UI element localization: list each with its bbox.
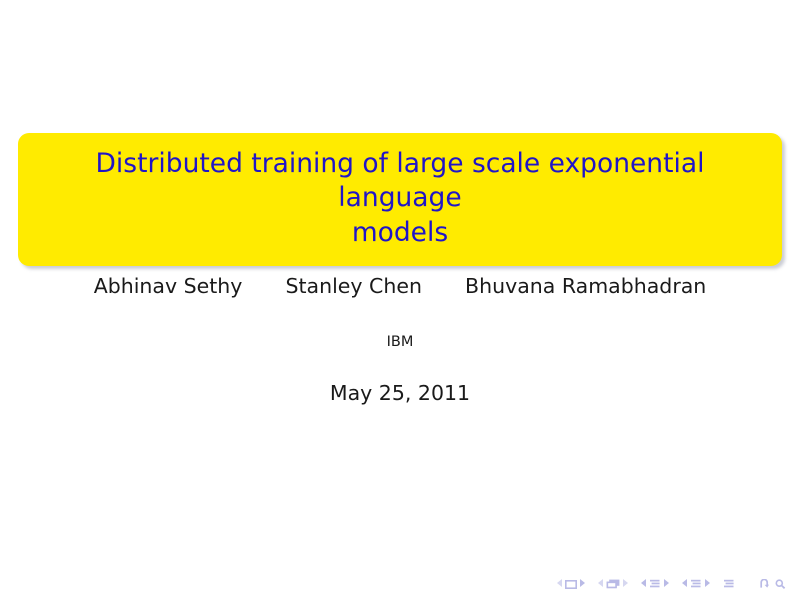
nav-group-section[interactable] xyxy=(682,574,710,593)
title-block: Distributed training of large scale expo… xyxy=(18,133,782,266)
title-block-wrapper: Distributed training of large scale expo… xyxy=(18,133,782,266)
author-name: Bhuvana Ramabhadran xyxy=(465,274,706,298)
section-icon[interactable] xyxy=(690,574,702,593)
magnifier-icon[interactable] xyxy=(775,574,786,593)
back-arrow-icon[interactable] xyxy=(759,574,770,593)
author-list: Abhinav Sethy Stanley Chen Bhuvana Ramab… xyxy=(0,274,800,298)
presentation-slide: Distributed training of large scale expo… xyxy=(0,0,800,600)
slide-icon[interactable] xyxy=(565,574,577,593)
next-slide-icon[interactable] xyxy=(580,579,585,587)
nav-group-tools[interactable] xyxy=(759,574,786,593)
nav-group-subsection[interactable] xyxy=(641,574,669,593)
slide-title-line-1: Distributed training of large scale expo… xyxy=(96,148,705,213)
previous-subsection-icon[interactable] xyxy=(641,579,646,587)
institute-name: IBM xyxy=(0,334,800,350)
author-name: Abhinav Sethy xyxy=(94,274,243,298)
previous-section-icon[interactable] xyxy=(682,579,687,587)
presentation-icon[interactable] xyxy=(723,574,735,593)
next-frame-icon[interactable] xyxy=(623,579,628,587)
next-section-icon[interactable] xyxy=(705,579,710,587)
nav-group-slide[interactable] xyxy=(557,574,585,593)
previous-frame-icon[interactable] xyxy=(598,579,603,587)
slide-title: Distributed training of large scale expo… xyxy=(44,147,756,250)
next-subsection-icon[interactable] xyxy=(664,579,669,587)
nav-group-frame[interactable] xyxy=(598,574,628,593)
slide-title-line-2: models xyxy=(352,217,448,248)
nav-group-presentation[interactable] xyxy=(723,574,735,593)
presentation-date: May 25, 2011 xyxy=(0,381,800,405)
author-name: Stanley Chen xyxy=(285,274,421,298)
subsection-icon[interactable] xyxy=(649,574,661,593)
beamer-navigation-bar[interactable] xyxy=(557,574,786,592)
frame-icon[interactable] xyxy=(606,574,620,593)
previous-slide-icon[interactable] xyxy=(557,579,562,587)
